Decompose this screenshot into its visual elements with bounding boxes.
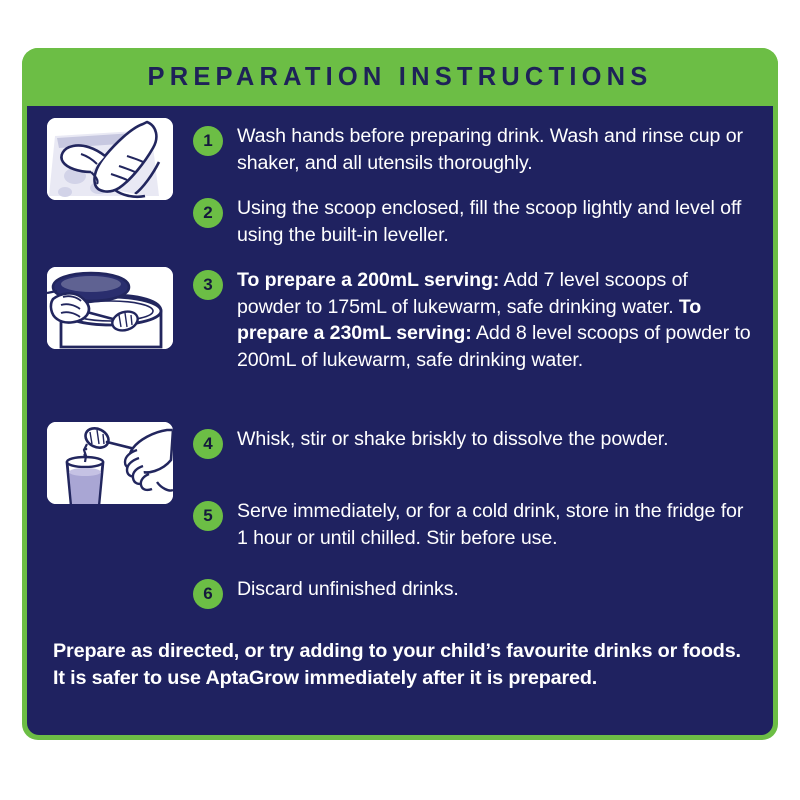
step-number-badge: 2	[193, 198, 223, 228]
washing-hands-illustration	[47, 118, 173, 200]
step-number-badge: 5	[193, 501, 223, 531]
instruction-step-5: 5 Serve immediately, or for a cold drink…	[193, 498, 753, 551]
step-text: To prepare a 200mL serving: Add 7 level …	[237, 267, 753, 373]
step-number-badge: 4	[193, 429, 223, 459]
pouring-into-glass-illustration	[47, 422, 173, 504]
instruction-step-4: 4 Whisk, stir or shake briskly to dissol…	[193, 426, 753, 459]
instruction-step-6: 6 Discard unfinished drinks.	[193, 576, 753, 609]
card-body: 1 Wash hands before preparing drink. Was…	[27, 106, 773, 735]
instruction-step-3: 3 To prepare a 200mL serving: Add 7 leve…	[193, 267, 753, 373]
step-text: Wash hands before preparing drink. Wash …	[237, 123, 753, 176]
step-text: Discard unfinished drinks.	[237, 576, 459, 603]
step-text: Serve immediately, or for a cold drink, …	[237, 498, 753, 551]
step-number-badge: 6	[193, 579, 223, 609]
instruction-step-1: 1 Wash hands before preparing drink. Was…	[193, 123, 753, 176]
scooping-powder-illustration	[47, 267, 173, 349]
card-header: PREPARATION INSTRUCTIONS	[22, 48, 778, 106]
step-text: Whisk, stir or shake briskly to dissolve…	[237, 426, 668, 453]
preparation-instructions-card: PREPARATION INSTRUCTIONS	[22, 48, 778, 740]
page-title: PREPARATION INSTRUCTIONS	[148, 63, 653, 92]
step-number-badge: 3	[193, 270, 223, 300]
step-text: Using the scoop enclosed, fill the scoop…	[237, 195, 753, 248]
step-number-badge: 1	[193, 126, 223, 156]
instruction-step-2: 2 Using the scoop enclosed, fill the sco…	[193, 195, 753, 248]
footer-note: Prepare as directed, or try adding to yo…	[53, 638, 753, 692]
